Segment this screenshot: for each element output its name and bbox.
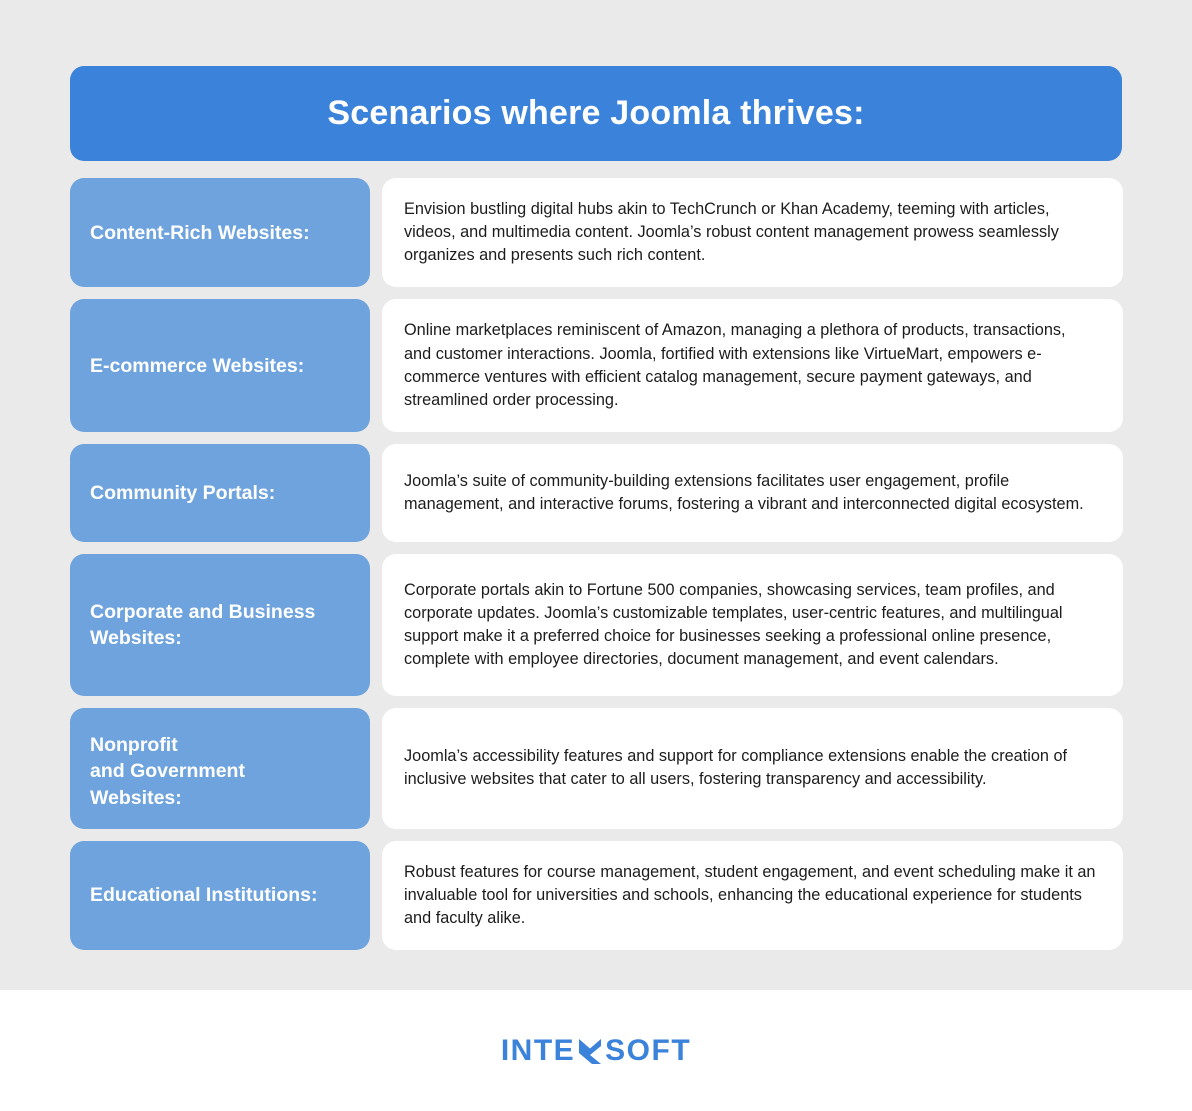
scenario-description-card: Robust features for course management, s… (382, 841, 1123, 950)
scenario-label: Educational Institutions: (90, 882, 318, 908)
list-item: Nonprofitand GovernmentWebsites: Joomla’… (70, 708, 1123, 829)
scenario-label-card: Corporate and Business Websites: (70, 554, 370, 696)
infographic-page: Scenarios where Joomla thrives: Content-… (0, 0, 1192, 1111)
scenario-description-card: Corporate portals akin to Fortune 500 co… (382, 554, 1123, 696)
logo-text-left: INTE (501, 1034, 575, 1068)
scenario-description: Online marketplaces reminiscent of Amazo… (404, 319, 1097, 412)
page-title: Scenarios where Joomla thrives: (327, 94, 864, 133)
scenario-label-card: Community Portals: (70, 444, 370, 542)
scenario-description-card: Joomla’s accessibility features and supp… (382, 708, 1123, 829)
scenario-description-card: Envision bustling digital hubs akin to T… (382, 178, 1123, 287)
scenario-description: Envision bustling digital hubs akin to T… (404, 198, 1097, 267)
logo-text-right: SOFT (605, 1034, 691, 1068)
list-item: Corporate and Business Websites: Corpora… (70, 554, 1123, 696)
scenario-description-card: Online marketplaces reminiscent of Amazo… (382, 299, 1123, 432)
scenario-label-card: Educational Institutions: (70, 841, 370, 950)
scenario-label-card: Content-Rich Websites: (70, 178, 370, 287)
scenario-list: Content-Rich Websites: Envision bustling… (70, 178, 1123, 962)
scenario-description: Corporate portals akin to Fortune 500 co… (404, 579, 1097, 672)
scenario-label: Nonprofitand GovernmentWebsites: (90, 732, 245, 811)
intexsoft-logo: INTE SOFT (501, 1034, 691, 1068)
scenario-label: Content-Rich Websites: (90, 220, 310, 246)
list-item: Educational Institutions: Robust feature… (70, 841, 1123, 950)
scenario-description-card: Joomla’s suite of community-building ext… (382, 444, 1123, 542)
scenario-label: Corporate and Business Websites: (90, 599, 350, 652)
list-item: Content-Rich Websites: Envision bustling… (70, 178, 1123, 287)
x-mark-icon (577, 1036, 603, 1066)
scenario-label-card: Nonprofitand GovernmentWebsites: (70, 708, 370, 829)
scenario-description: Robust features for course management, s… (404, 861, 1097, 930)
scenario-description: Joomla’s accessibility features and supp… (404, 745, 1097, 791)
list-item: E-commerce Websites: Online marketplaces… (70, 299, 1123, 432)
scenario-label: E-commerce Websites: (90, 353, 304, 379)
title-banner: Scenarios where Joomla thrives: (70, 66, 1122, 161)
list-item: Community Portals: Joomla’s suite of com… (70, 444, 1123, 542)
footer-band: INTE SOFT (0, 990, 1192, 1111)
scenario-label: Community Portals: (90, 480, 275, 506)
scenario-label-card: E-commerce Websites: (70, 299, 370, 432)
scenario-description: Joomla’s suite of community-building ext… (404, 470, 1097, 516)
